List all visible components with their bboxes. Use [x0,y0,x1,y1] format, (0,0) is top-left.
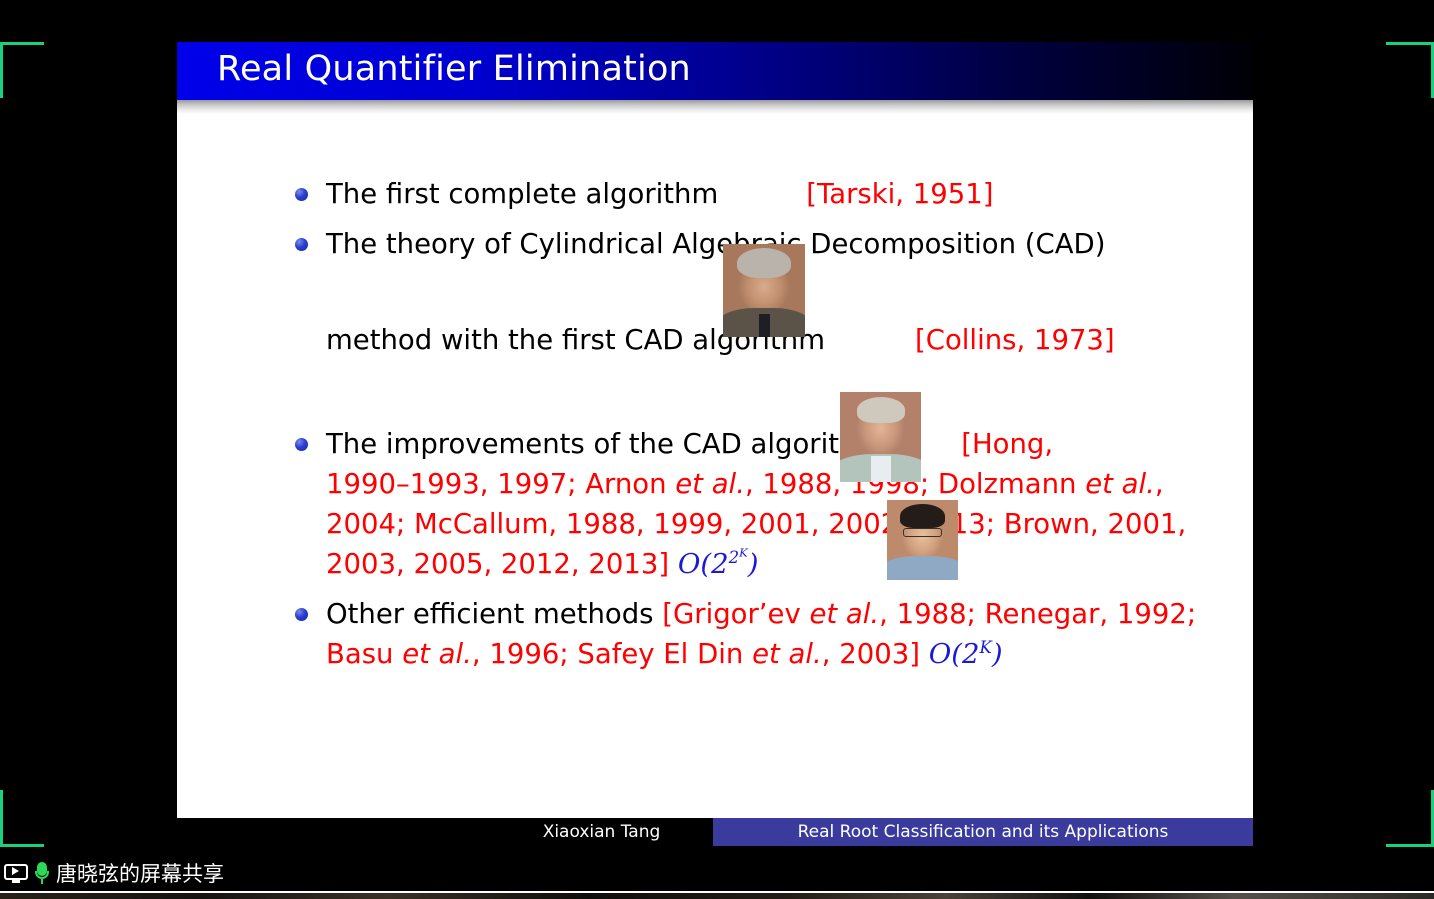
hong-portrait [887,500,958,580]
share-status-label: 唐晓弦的屏幕共享 [56,858,224,888]
desktop-wallpaper-strip [0,893,1434,899]
bullet-3-citation-line3: 2004; McCallum, 1988, 1999, 2001, 2002, … [326,504,1186,544]
slide-body: The first complete algorithm[Tarski, 195… [177,114,1253,818]
slide-title-bar: Real Quantifier Elimination [177,42,1253,100]
bullet-4-citation-line2e: , 2003] [822,638,929,670]
meeting-taskbar: 唐晓弦的屏幕共享 [0,855,1434,891]
footer-talk-title: Real Root Classification and its Applica… [713,818,1253,846]
bullet-2-line1: The theory of Cylindrical Algebraic Deco… [326,224,1105,264]
screen-share-corner-top-left [0,42,44,98]
bullet-4-etal-2: et al. [402,638,472,670]
bullet-4-citation-line1a: [Grigor’ev [662,598,809,630]
bullet-3-text: The improvements of the CAD algorithm [326,428,883,460]
bullet-3-etal-1: et al. [675,468,745,500]
bullet-4-citation-line2c: , 1996; Safey El Din [472,638,752,670]
bullet-2-citation: [Collins, 1973] [915,324,1115,356]
bullet-3-citation-line4: 2003, 2005, 2012, 2013] [326,548,669,580]
tarski-portrait [723,244,805,337]
slide-title: Real Quantifier Elimination [217,49,691,89]
bullet-1-text: The first complete algorithm [326,178,718,210]
footer-author-label: Xiaoxian Tang [543,822,661,842]
slide-footer: Xiaoxian Tang Real Root Classification a… [0,818,1434,846]
bullet-dot-icon [295,238,308,251]
bullet-3-citation-line2e: , [1155,468,1164,500]
bullet-4-complexity: O(2K) [929,638,1003,670]
bullet-1-citation: [Tarski, 1951] [806,178,993,210]
microphone-icon[interactable] [35,862,49,884]
collins-portrait [840,392,921,482]
bullet-3-citation-line2a: 1990–1993, 1997; Arnon [326,468,675,500]
screen-share-corner-top-right [1386,42,1434,98]
footer-author: Xiaoxian Tang [490,818,713,846]
title-bar-shadow [177,100,1253,114]
footer-talk-title-label: Real Root Classification and its Applica… [798,822,1169,842]
bullet-3-etal-2: et al. [1085,468,1155,500]
bullet-4-etal-3: et al. [752,638,822,670]
bullet-4-citation-line2a: Basu [326,638,402,670]
bullet-3-complexity: O(22K) [678,548,759,580]
screen-share-icon[interactable] [4,864,28,883]
bullet-3-citation-line1: [Hong, [961,428,1053,460]
screen-share-viewport: Real Quantifier Elimination The first co… [0,0,1434,899]
bullet-dot-icon [295,188,308,201]
presentation-slide: Real Quantifier Elimination The first co… [177,42,1253,818]
bullet-4-etal-1: et al. [809,598,879,630]
bullet-4-text: Other efficient methods [326,598,662,630]
bullet-dot-icon [295,438,308,451]
bullet-dot-icon [295,608,308,621]
bullet-4-citation-line1c: , 1988; Renegar, 1992; [879,598,1196,630]
